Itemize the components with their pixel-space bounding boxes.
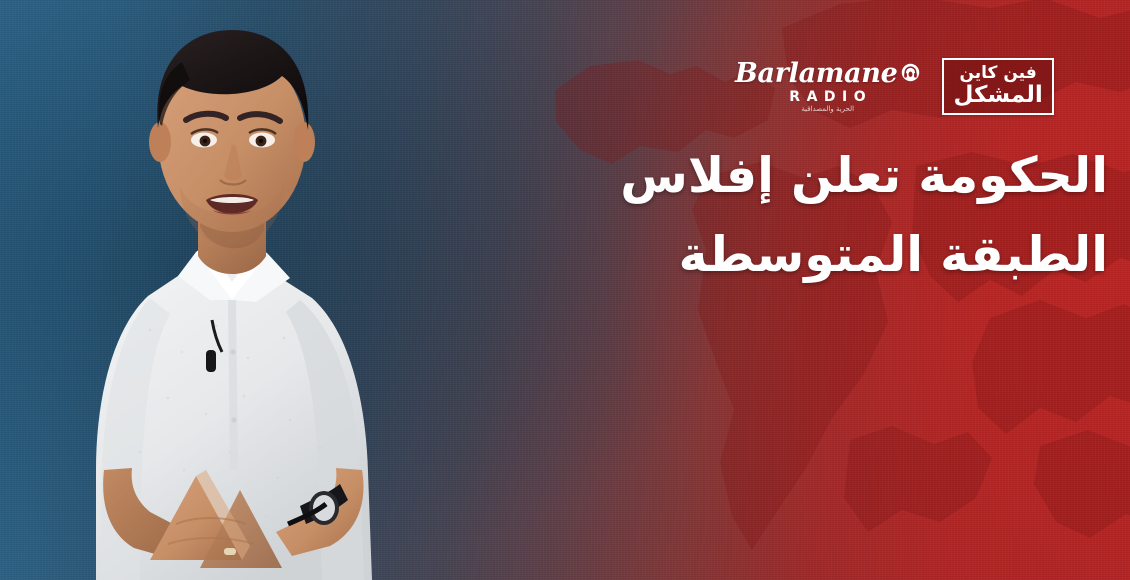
barlamane-radio-logo[interactable]: Barlamane RADIO الحرية والمصداقية [735,60,920,113]
show-logo-line1: فين كاين [959,65,1036,82]
show-logo[interactable]: فين كاين المشكل [942,58,1053,115]
presenter-figure [0,0,470,580]
headline: الحكومة تعلن إفلاس الطبقة المتوسطة [488,140,1108,291]
video-frame: Barlamane RADIO الحرية والمصداقية فين كا… [0,0,1130,580]
logo-bar: Barlamane RADIO الحرية والمصداقية فين كا… [735,58,1054,115]
headline-line-2: الطبقة المتوسطة [488,219,1108,292]
headline-line-1: الحكومة تعلن إفلاس [488,140,1108,213]
show-logo-line2: المشكل [953,84,1042,107]
barlamane-tagline: الحرية والمصداقية [801,106,854,113]
headphones-icon [901,63,920,85]
barlamane-wordmark: Barlamane [735,60,897,87]
barlamane-radio-subtitle: RADIO [783,90,872,104]
